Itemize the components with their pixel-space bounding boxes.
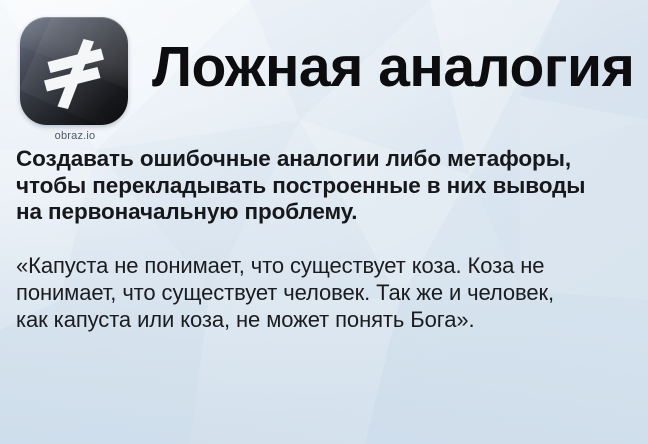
brand-caption: obraz.io [20,129,130,143]
quote-line: понимает, что существует человек. Так же… [16,279,636,306]
quote-line: как капуста или коза, не может понять Бо… [16,306,636,333]
description-line: Создавать ошибочные аналогии либо метафо… [16,146,636,173]
infographic-card: obraz.io Ложная аналогия Создавать ошибо… [0,0,648,444]
not-equal-icon [20,17,128,125]
brand-icon-block: obraz.io [20,17,130,143]
example-quote: «Капуста не понимает, что существует коз… [16,252,636,333]
description-line: на первоначальную проблему. [16,199,636,226]
page-title: Ложная аналогия [152,36,634,98]
description-line: чтобы перекладывать построенные в них вы… [16,173,636,200]
description-paragraph: Создавать ошибочные аналогии либо метафо… [16,146,636,226]
quote-line: «Капуста не понимает, что существует коз… [16,252,636,279]
card-header: obraz.io Ложная аналогия [0,0,648,148]
